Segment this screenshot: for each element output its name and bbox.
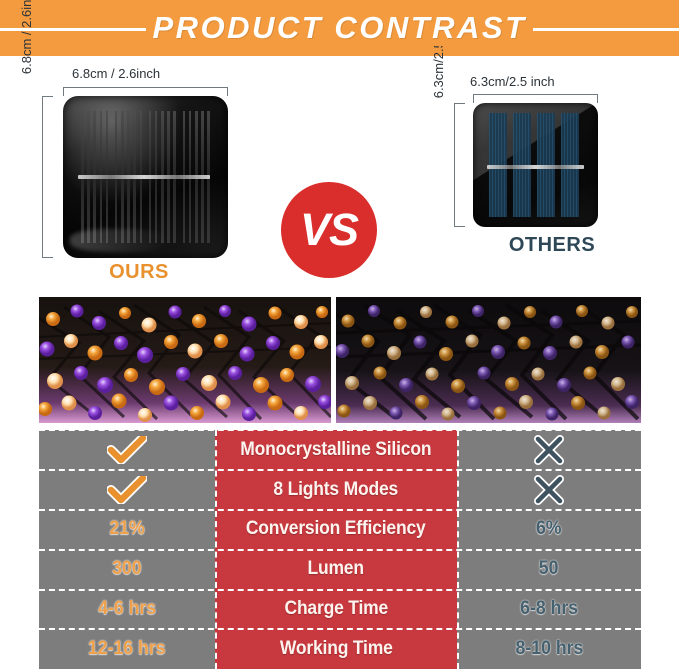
spec-label: Conversion Efficiency: [246, 518, 426, 540]
others-width-dimension-line: [473, 94, 598, 95]
table-row: 300 Lumen 50: [39, 549, 641, 589]
spec-label: Monocrystalline Silicon: [240, 439, 431, 461]
row-separator: [39, 549, 641, 551]
ours-value: 300: [112, 558, 141, 580]
others-value: 50: [539, 558, 559, 580]
ours-value-cell: 4-6 hrs: [39, 589, 215, 629]
table-row: Monocrystalline Silicon: [39, 430, 641, 470]
ours-height-label: 6.8cm / 2.6inch: [19, 0, 34, 111]
spec-label-cell: Lumen: [215, 549, 457, 589]
ours-width-label: 6.8cm / 2.6inch: [72, 66, 160, 81]
ours-value-cell: 12-16 hrs: [39, 629, 215, 669]
led-photo-strip: [39, 297, 641, 423]
page-title: PRODUCT CONTRAST: [146, 10, 532, 46]
spec-label-cell: Conversion Efficiency: [215, 510, 457, 550]
others-value-cell: [457, 470, 641, 510]
ours-value-cell: [39, 470, 215, 510]
column-separator-left: [215, 430, 217, 669]
row-separator: [39, 628, 641, 630]
ours-value-cell: 300: [39, 549, 215, 589]
table-row: 4-6 hrs Charge Time 6-8 hrs: [39, 589, 641, 629]
ours-value: 21%: [109, 518, 144, 540]
ours-value-cell: [39, 430, 215, 470]
spec-label-cell: Working Time: [215, 629, 457, 669]
spec-label: Working Time: [280, 638, 393, 660]
others-value: 8-10 hrs: [515, 638, 583, 660]
others-value-cell: 6%: [457, 510, 641, 550]
cross-icon: [534, 475, 564, 505]
others-busbar: [487, 165, 585, 169]
row-separator: [39, 509, 641, 511]
panel-comparison-section: 6.8cm / 2.6inch 6.8cm / 2.6inch OURS VS …: [0, 56, 679, 291]
vs-badge: VS: [281, 182, 377, 278]
others-value-cell: 8-10 hrs: [457, 629, 641, 669]
ours-height-dimension-line: [42, 96, 43, 258]
spec-label: Charge Time: [284, 598, 388, 620]
spec-label-cell: Monocrystalline Silicon: [215, 430, 457, 470]
cross-icon: [534, 435, 564, 465]
others-led-photo: [336, 297, 641, 423]
header-banner: PRODUCT CONTRAST: [0, 0, 679, 56]
ours-led-photo: [39, 297, 331, 423]
vs-badge-label: VS: [300, 204, 358, 256]
ours-panel-sheen: [70, 229, 169, 252]
table-row: 12-16 hrs Working Time 8-10 hrs: [39, 629, 641, 669]
spec-label: Lumen: [308, 558, 364, 580]
ours-panel-block: 6.8cm / 2.6inch 6.8cm / 2.6inch OURS: [14, 56, 264, 291]
others-solar-panel-image: [473, 103, 598, 227]
others-height-dimension-line: [454, 103, 455, 227]
spec-label-cell: Charge Time: [215, 589, 457, 629]
spec-label-cell: 8 Lights Modes: [215, 470, 457, 510]
ours-caption: OURS: [14, 261, 264, 284]
ours-value-cell: 21%: [39, 510, 215, 550]
spec-label: 8 Lights Modes: [274, 479, 399, 501]
ours-value: 4-6 hrs: [98, 598, 156, 620]
table-row: 21% Conversion Efficiency 6%: [39, 510, 641, 550]
ours-busbar: [78, 175, 210, 179]
ours-value: 12-16 hrs: [88, 638, 166, 660]
others-led-bulbs: [336, 297, 641, 423]
spec-comparison-table: Monocrystalline Silicon 8 Lights Modes: [39, 430, 641, 669]
ours-solar-panel-image: [63, 96, 228, 258]
ours-led-bulbs: [39, 297, 331, 423]
others-caption: OTHERS: [432, 234, 672, 257]
row-separator: [39, 469, 641, 471]
others-value-cell: 50: [457, 549, 641, 589]
banner-rule-right: [531, 28, 679, 31]
others-width-label: 6.3cm/2.5 inch: [470, 74, 555, 89]
check-icon: [107, 476, 147, 504]
column-separator-right: [457, 430, 459, 669]
others-panel-block: 6.3cm/2.5 inch 6.3cm/2.5 inch OTHERS: [432, 56, 672, 291]
row-separator: [39, 589, 641, 591]
row-separator: [39, 429, 641, 431]
others-value: 6-8 hrs: [520, 598, 578, 620]
table-row: 8 Lights Modes: [39, 470, 641, 510]
others-value-cell: 6-8 hrs: [457, 589, 641, 629]
check-icon: [107, 436, 147, 464]
others-value-cell: [457, 430, 641, 470]
ours-width-dimension-line: [63, 87, 228, 88]
others-value: 6%: [536, 518, 562, 540]
